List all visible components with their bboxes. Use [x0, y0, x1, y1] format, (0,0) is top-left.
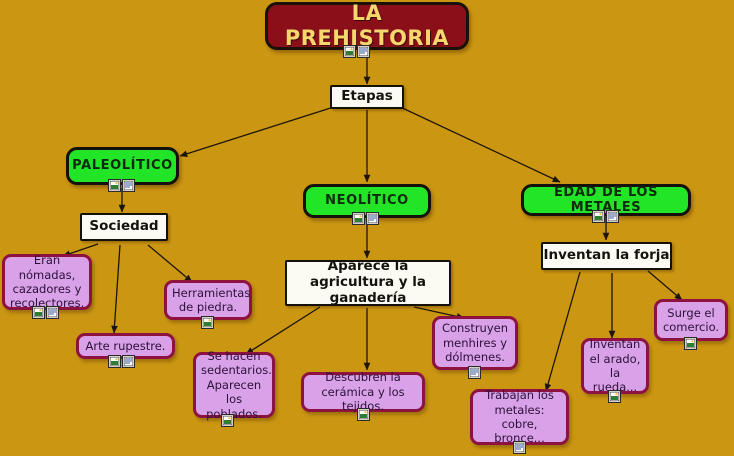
node-aparece-la-agricultura[interactable]: Aparece la agricultura y la ganadería: [285, 260, 451, 306]
icons-title[interactable]: [343, 45, 370, 58]
icons-construyen-menhires[interactable]: [468, 366, 481, 379]
icons-inventan-el-arado[interactable]: [608, 390, 621, 403]
picture-icon[interactable]: [343, 45, 356, 58]
note-icon[interactable]: [46, 306, 59, 319]
node-construyen-menhires-label: Construyen menhires y dólmenes.: [440, 321, 510, 364]
icons-edad-de-los-metales[interactable]: [592, 210, 619, 223]
note-icon[interactable]: [366, 212, 379, 225]
note-icon[interactable]: [122, 179, 135, 192]
node-surge-el-comercio[interactable]: Surge el comercio.: [654, 299, 728, 341]
concept-map-canvas: LA PREHISTORIA Etapas PALEOLÍTICO NEOLÍT…: [0, 0, 734, 456]
node-trabajan-los-metales-label: Trabajan los metales: cobre, bronce...: [478, 388, 561, 446]
node-etapas-label: Etapas: [332, 89, 402, 105]
node-construyen-menhires[interactable]: Construyen menhires y dólmenes.: [432, 316, 518, 370]
picture-icon[interactable]: [592, 210, 605, 223]
icons-descubren-la-ceramica[interactable]: [357, 408, 370, 421]
icons-se-hacen-sedentarios[interactable]: [221, 414, 234, 427]
picture-icon[interactable]: [684, 337, 697, 350]
picture-icon[interactable]: [201, 316, 214, 329]
node-aparece-la-agricultura-label: Aparece la agricultura y la ganadería: [287, 259, 449, 307]
node-inventan-la-forja[interactable]: Inventan la forja: [541, 242, 672, 270]
picture-icon[interactable]: [608, 390, 621, 403]
icons-arte-rupestre[interactable]: [108, 355, 135, 368]
node-title[interactable]: LA PREHISTORIA: [265, 2, 469, 50]
node-paleolitico-label: PALEOLÍTICO: [69, 158, 176, 173]
node-inventan-el-arado[interactable]: Inventan el arado, la rueda...: [581, 338, 649, 394]
picture-icon[interactable]: [221, 414, 234, 427]
picture-icon[interactable]: [32, 306, 45, 319]
picture-icon[interactable]: [108, 179, 121, 192]
node-eran-nomadas-label: Eran nómadas, cazadores y recolectores.: [10, 253, 84, 311]
picture-icon[interactable]: [108, 355, 121, 368]
note-icon[interactable]: [468, 366, 481, 379]
node-title-label: LA PREHISTORIA: [268, 1, 466, 51]
node-surge-el-comercio-label: Surge el comercio.: [662, 306, 720, 335]
node-sociedad-label: Sociedad: [82, 219, 166, 235]
node-arte-rupestre-label: Arte rupestre.: [84, 339, 167, 353]
icons-eran-nomadas[interactable]: [32, 306, 59, 319]
node-trabajan-los-metales[interactable]: Trabajan los metales: cobre, bronce...: [470, 389, 569, 445]
note-icon[interactable]: [122, 355, 135, 368]
icons-surge-el-comercio[interactable]: [684, 337, 697, 350]
note-icon[interactable]: [606, 210, 619, 223]
picture-icon[interactable]: [357, 408, 370, 421]
node-herramientas-de-piedra[interactable]: Herramientas de piedra.: [164, 280, 252, 320]
icons-trabajan-los-metales[interactable]: [513, 441, 526, 454]
node-se-hacen-sedentarios[interactable]: Se hacen sedentarios. Aparecen los pobla…: [193, 352, 275, 418]
icons-herramientas-de-piedra[interactable]: [201, 316, 214, 329]
node-neolitico-label: NEOLÍTICO: [306, 193, 428, 208]
node-herramientas-de-piedra-label: Herramientas de piedra.: [172, 286, 244, 315]
note-icon[interactable]: [357, 45, 370, 58]
node-etapas[interactable]: Etapas: [330, 85, 404, 109]
icons-paleolitico[interactable]: [108, 179, 135, 192]
node-sociedad[interactable]: Sociedad: [80, 213, 168, 241]
node-se-hacen-sedentarios-label: Se hacen sedentarios. Aparecen los pobla…: [201, 349, 267, 421]
node-inventan-el-arado-label: Inventan el arado, la rueda...: [589, 337, 641, 395]
node-eran-nomadas[interactable]: Eran nómadas, cazadores y recolectores.: [2, 254, 92, 310]
icons-neolitico[interactable]: [352, 212, 379, 225]
picture-icon[interactable]: [352, 212, 365, 225]
node-descubren-la-ceramica[interactable]: Descubren la cerámica y los tejidos.: [301, 372, 425, 412]
node-inventan-la-forja-label: Inventan la forja: [543, 248, 670, 264]
note-icon[interactable]: [513, 441, 526, 454]
